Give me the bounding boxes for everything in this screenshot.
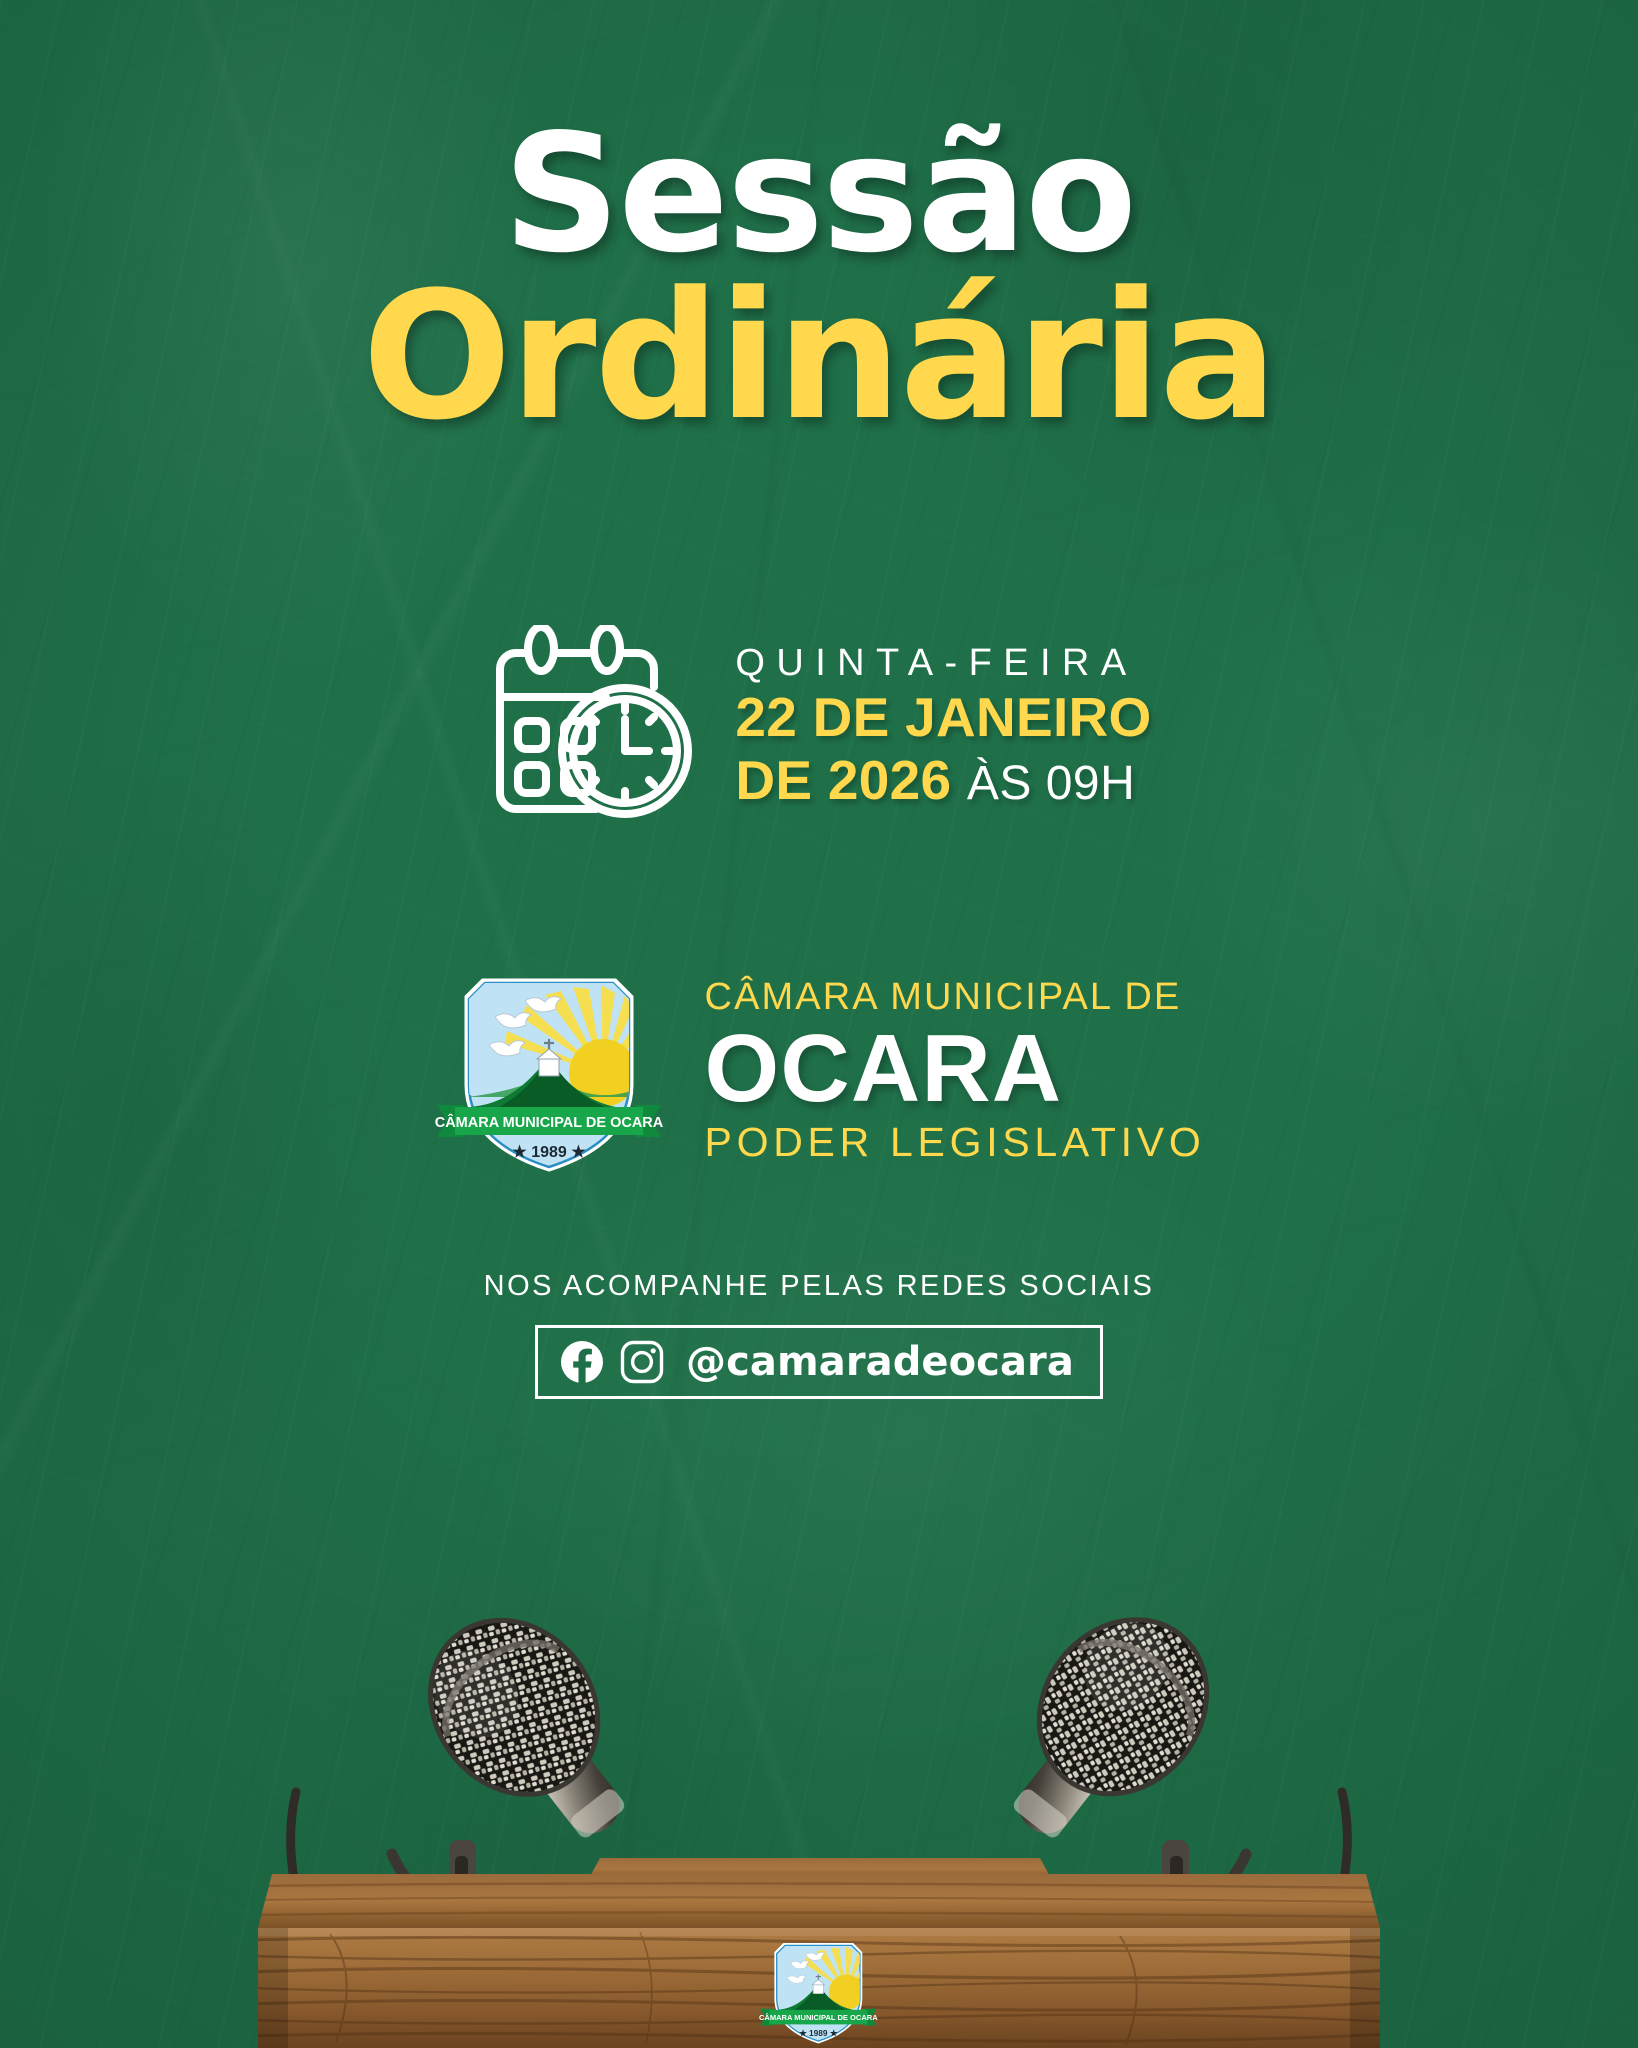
date-day-month: 22 DE JANEIRO — [735, 686, 1151, 750]
date-text-group: QUINTA-FEIRA 22 DE JANEIRO DE 2026 ÀS 09… — [735, 637, 1151, 813]
social-handle-box[interactable]: @camaradeocara — [535, 1325, 1103, 1399]
poster-canvas: Sessão Ordinária — [0, 0, 1638, 2048]
calendar-clock-icon — [486, 625, 701, 825]
podium-crest-banner-text: CÂMARA MUNICIPAL DE OCARA — [759, 2013, 878, 2022]
social-heading: NOS ACOMPANHE PELAS REDES SOCIAIS — [0, 1270, 1638, 1303]
date-year-time: DE 2026 ÀS 09H — [735, 749, 1151, 813]
podium-crest-year-text: ★ 1989 ★ — [798, 2028, 838, 2038]
brand-line-main: OCARA — [705, 1020, 1206, 1118]
brand-text-group: CÂMARA MUNICIPAL DE OCARA PODER LEGISLAT… — [705, 975, 1206, 1171]
social-handle[interactable]: @camaradeocara — [686, 1339, 1074, 1385]
date-time: ÀS 09H — [967, 757, 1135, 810]
brand-line-bottom: PODER LEGISLATIVO — [705, 1118, 1206, 1166]
headline-line-2: Ordinária — [0, 276, 1638, 438]
brand-line-top: CÂMARA MUNICIPAL DE — [705, 975, 1206, 1021]
podium-scene: CÂMARA MUNICIPAL DE OCARA ★ 1989 ★ — [0, 1388, 1638, 2048]
headline-block: Sessão Ordinária — [0, 120, 1638, 438]
date-block: QUINTA-FEIRA 22 DE JANEIRO DE 2026 ÀS 09… — [0, 625, 1638, 825]
wooden-podium: CÂMARA MUNICIPAL DE OCARA ★ 1989 ★ — [250, 1858, 1390, 2048]
instagram-icon[interactable] — [620, 1340, 664, 1384]
date-year: DE 2026 — [735, 749, 951, 811]
facebook-icon[interactable] — [560, 1340, 604, 1384]
crest-year-text: ★ 1989 ★ — [512, 1144, 586, 1161]
crest-banner-text: CÂMARA MUNICIPAL DE OCARA — [434, 1113, 663, 1131]
ocara-coat-of-arms-icon: CÂMARA MUNICIPAL DE OCARA ★ 1989 ★ — [433, 965, 665, 1180]
crest-banner: CÂMARA MUNICIPAL DE OCARA — [434, 1105, 663, 1137]
brand-block: CÂMARA MUNICIPAL DE OCARA ★ 1989 ★ CÂMAR… — [0, 965, 1638, 1180]
social-block: NOS ACOMPANHE PELAS REDES SOCIAIS @camar… — [0, 1270, 1638, 1399]
headline-line-1: Sessão — [0, 120, 1638, 270]
date-weekday: QUINTA-FEIRA — [735, 641, 1151, 686]
